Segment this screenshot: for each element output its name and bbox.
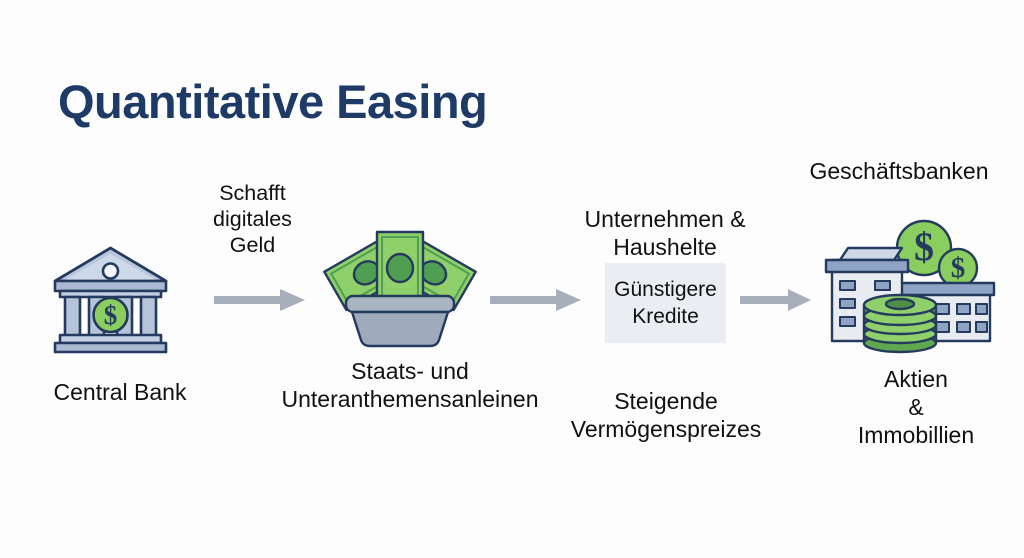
page-title: Quantitative Easing bbox=[58, 74, 487, 129]
cheaper-credit-label: Günstigere Kredite bbox=[614, 276, 717, 330]
label-stocks-real-estate: Aktien & Immobillien bbox=[818, 365, 1014, 449]
label-government-corporate-bonds: Staats- und Unteranthemensanleinen bbox=[250, 357, 570, 413]
label-rising-asset-prices: Steigende Vermögenspreizes bbox=[553, 387, 779, 443]
label-central-bank: Central Bank bbox=[0, 378, 240, 406]
commercial-banks-icon: $ $ bbox=[818, 215, 998, 350]
cheaper-credit-box: Günstigere Kredite bbox=[605, 263, 726, 343]
infographic-canvas: Quantitative Easing $ bbox=[0, 0, 1024, 558]
svg-text:$: $ bbox=[104, 300, 118, 330]
label-firms-households: Unternehmen & Haushelte bbox=[555, 205, 775, 261]
money-basket-icon bbox=[320, 218, 480, 348]
arrow-bonds-to-credit bbox=[490, 288, 582, 312]
svg-text:$: $ bbox=[951, 252, 966, 284]
arrow-credit-to-banks bbox=[740, 288, 812, 312]
arrow-bank-to-bonds bbox=[214, 288, 306, 312]
label-creates-digital-money: Schafft digitales Geld bbox=[180, 180, 325, 258]
label-commercial-banks: Geschäftsbanken bbox=[780, 157, 1018, 185]
bank-building-icon: $ bbox=[48, 245, 173, 355]
svg-text:$: $ bbox=[914, 224, 934, 269]
